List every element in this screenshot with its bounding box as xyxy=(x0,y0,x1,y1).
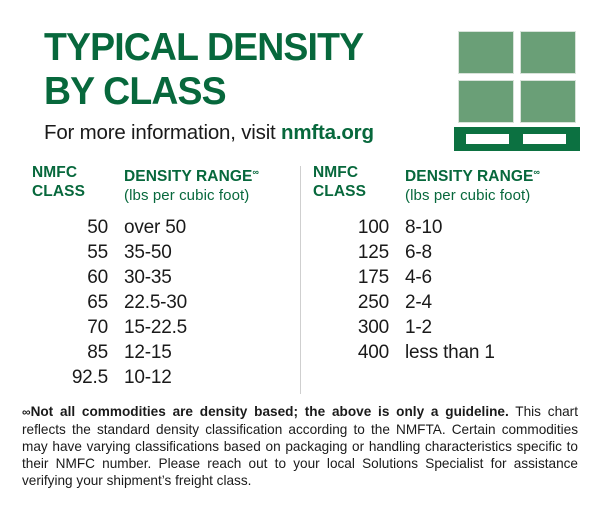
density-table-right: NMFC CLASS DENSITY RANGE∞ (lbs per cubic… xyxy=(313,163,583,367)
table-row: 100 8-10 xyxy=(313,217,583,242)
column-header-density-range: DENSITY RANGE∞ (lbs per cubic foot) xyxy=(124,163,259,205)
column-header-density-range-label: DENSITY RANGE xyxy=(124,168,252,185)
column-header-nmfc-class-line1: NMFC xyxy=(313,164,358,181)
pallet-deck-bottom xyxy=(454,144,580,151)
pallet-box-bottom-right xyxy=(520,80,576,123)
cell-density-range: 4-6 xyxy=(405,267,432,289)
cell-density-range: 12-15 xyxy=(124,342,172,364)
column-header-nmfc-class-line1: NMFC xyxy=(32,164,77,181)
column-header-nmfc-class: NMFC CLASS xyxy=(32,163,124,205)
pallet-block-left xyxy=(454,134,466,144)
table-row: 50 over 50 xyxy=(32,217,294,242)
column-header-nmfc-class-line2: CLASS xyxy=(313,183,366,200)
cell-density-range: 30-35 xyxy=(124,267,172,289)
table-header-right: NMFC CLASS DENSITY RANGE∞ (lbs per cubic… xyxy=(313,163,583,205)
column-divider xyxy=(300,166,301,394)
subtitle-prefix: For more information, visit xyxy=(44,121,281,144)
table-row: 92.5 10-12 xyxy=(32,367,294,392)
cell-density-range: over 50 xyxy=(124,217,186,239)
pallet-block-center xyxy=(509,134,523,144)
table-row: 85 12-15 xyxy=(32,342,294,367)
column-header-density-range-units: (lbs per cubic foot) xyxy=(405,186,540,205)
page-title-line-1: TYPICAL DENSITY xyxy=(44,28,428,67)
nmfta-link[interactable]: nmfta.org xyxy=(281,121,374,144)
cell-nmfc-class: 250 xyxy=(313,292,405,314)
table-body-left: 50 over 50 55 35-50 60 30-35 65 22.5-30 … xyxy=(32,217,294,392)
footnote-lead: Not all commodities are density based; t… xyxy=(31,404,509,419)
pallet-box-bottom-left xyxy=(458,80,514,123)
cell-nmfc-class: 70 xyxy=(32,317,124,339)
page-title-line-2: BY CLASS xyxy=(44,72,428,111)
density-tables: NMFC CLASS DENSITY RANGE∞ (lbs per cubic… xyxy=(0,163,600,401)
cell-nmfc-class: 125 xyxy=(313,242,405,264)
footnote-marker-icon: ∞ xyxy=(252,167,258,177)
pallet-box-top-right xyxy=(520,31,576,74)
table-row: 300 1-2 xyxy=(313,317,583,342)
header: TYPICAL DENSITY BY CLASS For more inform… xyxy=(0,0,600,160)
column-header-density-range: DENSITY RANGE∞ (lbs per cubic foot) xyxy=(405,163,540,205)
cell-nmfc-class: 175 xyxy=(313,267,405,289)
pallet-base xyxy=(454,127,582,151)
cell-nmfc-class: 50 xyxy=(32,217,124,239)
table-row: 125 6-8 xyxy=(313,242,583,267)
table-row: 55 35-50 xyxy=(32,242,294,267)
cell-nmfc-class: 100 xyxy=(313,217,405,239)
pallet-box-top-left xyxy=(458,31,514,74)
table-row: 60 30-35 xyxy=(32,267,294,292)
cell-density-range: 22.5-30 xyxy=(124,292,187,314)
pallet-block-right xyxy=(566,134,580,144)
cell-density-range: 8-10 xyxy=(405,217,442,239)
table-row: 250 2-4 xyxy=(313,292,583,317)
column-header-nmfc-class-line2: CLASS xyxy=(32,183,85,200)
cell-nmfc-class: 300 xyxy=(313,317,405,339)
cell-density-range: 15-22.5 xyxy=(124,317,187,339)
cell-nmfc-class: 92.5 xyxy=(32,367,124,389)
column-header-density-range-label: DENSITY RANGE xyxy=(405,168,533,185)
footnote: ∞Not all commodities are density based; … xyxy=(22,403,578,489)
table-header-left: NMFC CLASS DENSITY RANGE∞ (lbs per cubic… xyxy=(32,163,294,205)
density-table-left: NMFC CLASS DENSITY RANGE∞ (lbs per cubic… xyxy=(32,163,294,392)
density-by-class-card: TYPICAL DENSITY BY CLASS For more inform… xyxy=(0,0,600,522)
cell-density-range: 2-4 xyxy=(405,292,432,314)
cell-density-range: 6-8 xyxy=(405,242,432,264)
subtitle: For more information, visit nmfta.org xyxy=(44,121,444,145)
cell-nmfc-class: 60 xyxy=(32,267,124,289)
table-body-right: 100 8-10 125 6-8 175 4-6 250 2-4 300 1 xyxy=(313,217,583,367)
footnote-marker-icon: ∞ xyxy=(533,167,539,177)
cell-density-range: less than 1 xyxy=(405,342,495,364)
cell-nmfc-class: 85 xyxy=(32,342,124,364)
column-header-nmfc-class: NMFC CLASS xyxy=(313,163,405,205)
pallet-with-boxes-icon xyxy=(458,31,583,150)
table-row: 70 15-22.5 xyxy=(32,317,294,342)
cell-density-range: 10-12 xyxy=(124,367,172,389)
cell-nmfc-class: 400 xyxy=(313,342,405,364)
footnote-marker-icon: ∞ xyxy=(22,405,31,419)
table-row: 400 less than 1 xyxy=(313,342,583,367)
cell-density-range: 1-2 xyxy=(405,317,432,339)
cell-nmfc-class: 65 xyxy=(32,292,124,314)
pallet-deck-top xyxy=(454,127,580,134)
table-row: 65 22.5-30 xyxy=(32,292,294,317)
table-row: 175 4-6 xyxy=(313,267,583,292)
column-header-density-range-units: (lbs per cubic foot) xyxy=(124,186,259,205)
cell-nmfc-class: 55 xyxy=(32,242,124,264)
title-block: TYPICAL DENSITY BY CLASS For more inform… xyxy=(44,28,444,145)
cell-density-range: 35-50 xyxy=(124,242,172,264)
